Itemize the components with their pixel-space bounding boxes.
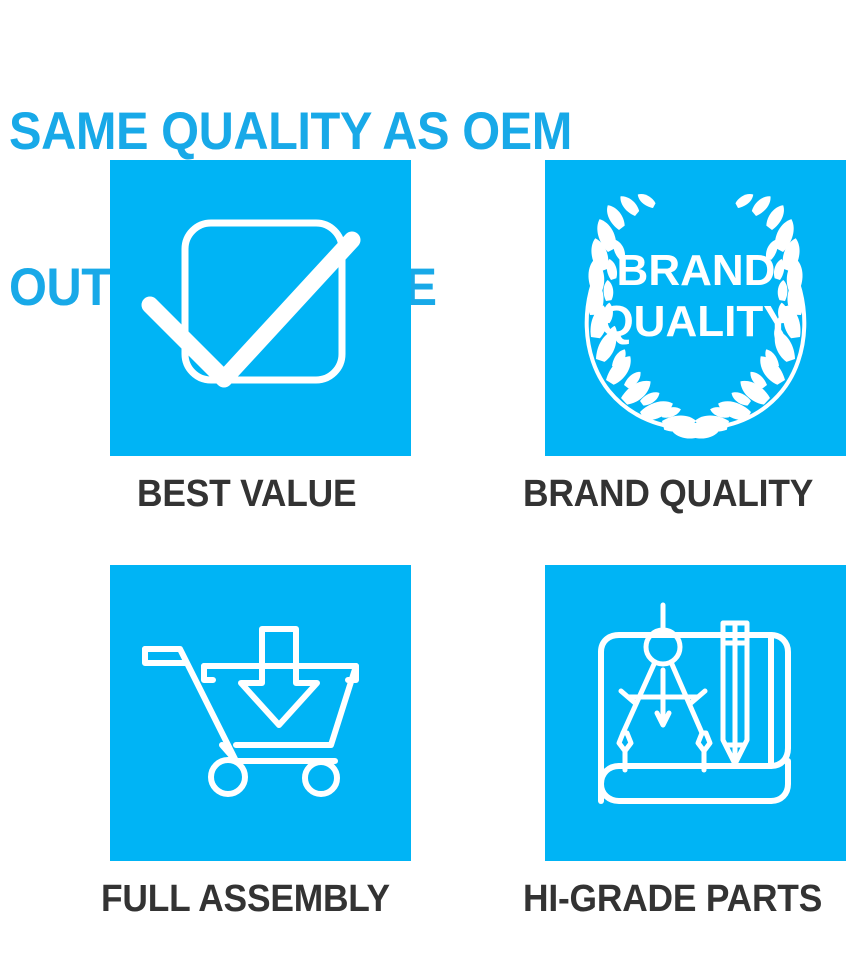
feature-grid: BEST VALUE xyxy=(0,160,862,970)
shopping-cart-download-icon xyxy=(110,565,411,861)
checkbox-check-icon xyxy=(110,160,411,456)
wreath-text-brand: BRAND xyxy=(617,246,776,295)
feature-item-full-assembly: FULL ASSEMBLY xyxy=(110,565,412,919)
feature-label: FULL ASSEMBLY xyxy=(101,879,390,919)
feature-row: BEST VALUE xyxy=(0,160,862,565)
headline-line-1: SAME QUALITY AS OEM xyxy=(9,106,782,158)
blueprint-compass-pencil-icon xyxy=(545,565,846,861)
feature-item-hi-grade-parts: HI-GRADE PARTS xyxy=(545,565,846,919)
feature-item-best-value: BEST VALUE xyxy=(110,160,411,514)
feature-row: FULL ASSEMBLY xyxy=(0,565,862,970)
wreath-text-quality: QUALITY xyxy=(599,297,792,346)
laurel-wreath-icon: BRAND QUALITY xyxy=(545,160,846,456)
feature-icon-tile xyxy=(110,565,411,861)
feature-label: HI-GRADE PARTS xyxy=(523,879,823,919)
feature-icon-tile: BRAND QUALITY xyxy=(545,160,846,456)
feature-icon-tile xyxy=(110,160,411,456)
feature-label: BRAND QUALITY xyxy=(523,474,823,514)
feature-item-brand-quality: BRAND QUALITY BRAND QUALITY xyxy=(545,160,846,514)
feature-icon-tile xyxy=(545,565,846,861)
feature-label: BEST VALUE xyxy=(137,474,392,514)
